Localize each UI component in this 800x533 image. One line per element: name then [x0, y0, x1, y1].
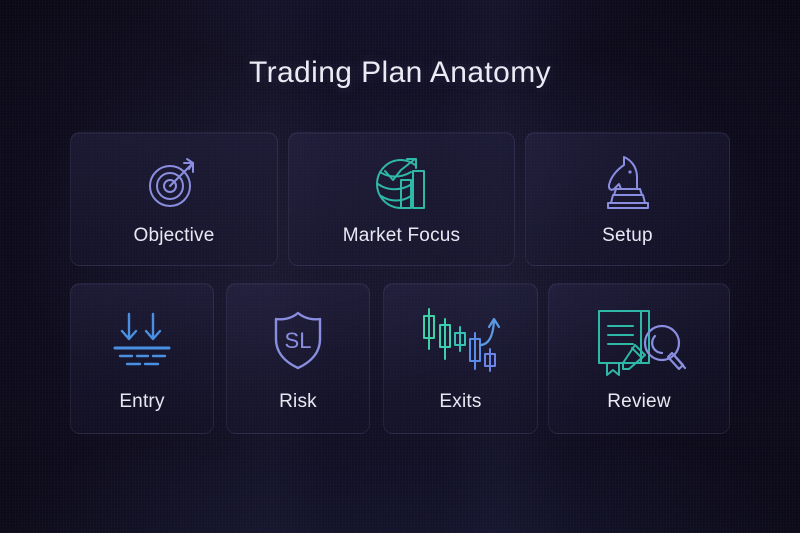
globe-bar-chart-icon [371, 151, 433, 213]
journal-magnifier-icon [589, 305, 689, 375]
card-label: Review [607, 391, 671, 413]
card-entry[interactable]: Entry [70, 283, 214, 434]
card-label: Exits [439, 391, 481, 413]
page-title: Trading Plan Anatomy [0, 56, 800, 90]
infographic-canvas: Trading Plan Anatomy Objective [0, 0, 800, 533]
card-label: Entry [119, 391, 164, 413]
candlestick-arrow-icon [420, 305, 502, 375]
card-objective[interactable]: Objective [70, 132, 278, 266]
down-arrows-levels-icon [107, 305, 177, 375]
card-label: Setup [602, 225, 653, 247]
chess-knight-icon [599, 151, 657, 213]
card-review[interactable]: Review [548, 283, 730, 434]
card-label: Market Focus [343, 225, 461, 247]
card-risk[interactable]: SL Risk [226, 283, 370, 434]
card-market-focus[interactable]: Market Focus [288, 132, 515, 266]
shield-sl-icon: SL [268, 305, 328, 375]
card-label: Risk [279, 391, 317, 413]
target-arrow-icon [143, 151, 205, 213]
card-exits[interactable]: Exits [383, 283, 538, 434]
shield-badge-text: SL [285, 328, 312, 353]
card-setup[interactable]: Setup [525, 132, 730, 266]
card-label: Objective [133, 225, 214, 247]
